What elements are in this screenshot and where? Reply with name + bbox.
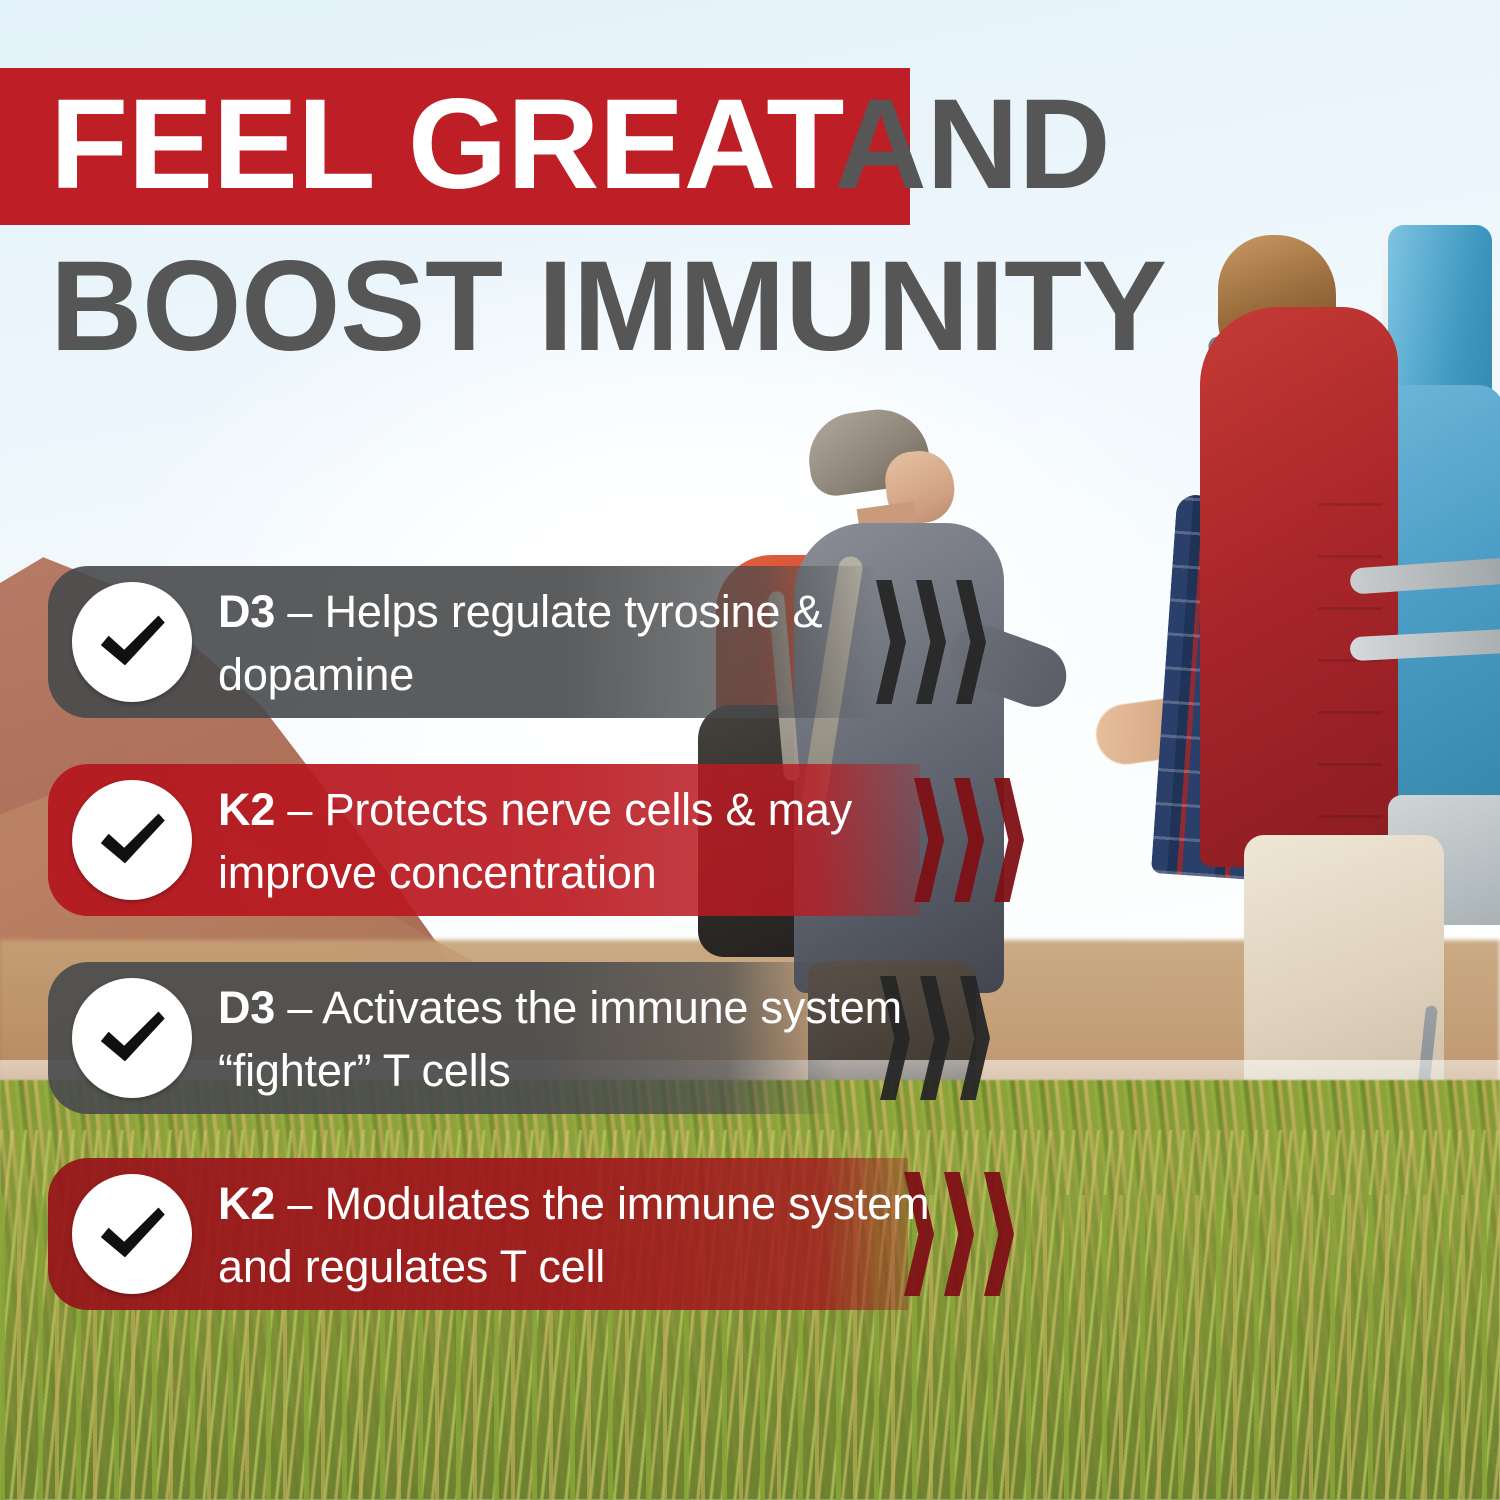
promo-poster: FEEL GREATAND BOOST IMMUNITY D3 – Helps … bbox=[0, 0, 1500, 1500]
benefit-text-4: K2 – Modulates the immune system and reg… bbox=[218, 1172, 958, 1298]
benefit-nutrient-1: D3 bbox=[218, 586, 275, 637]
benefit-separator-1: – bbox=[275, 586, 324, 637]
benefit-separator-2: – bbox=[275, 784, 324, 835]
benefit-nutrient-4: K2 bbox=[218, 1178, 275, 1229]
benefit-list: D3 – Helps regulate tyrosine & dopamine … bbox=[0, 0, 1500, 1500]
benefit-text-1: D3 – Helps regulate tyrosine & dopamine bbox=[218, 580, 958, 706]
benefit-text-3: D3 – Activates the immune system “fighte… bbox=[218, 976, 958, 1102]
check-icon bbox=[72, 780, 192, 900]
benefit-separator-4: – bbox=[275, 1178, 324, 1229]
benefit-body-4: Modulates the immune system and regulate… bbox=[218, 1178, 929, 1292]
benefit-text-2: K2 – Protects nerve cells & may improve … bbox=[218, 778, 958, 904]
benefit-separator-3: – bbox=[275, 982, 322, 1033]
benefit-nutrient-2: K2 bbox=[218, 784, 275, 835]
check-icon bbox=[72, 582, 192, 702]
benefit-nutrient-3: D3 bbox=[218, 982, 275, 1033]
check-icon bbox=[72, 1174, 192, 1294]
check-icon bbox=[72, 978, 192, 1098]
